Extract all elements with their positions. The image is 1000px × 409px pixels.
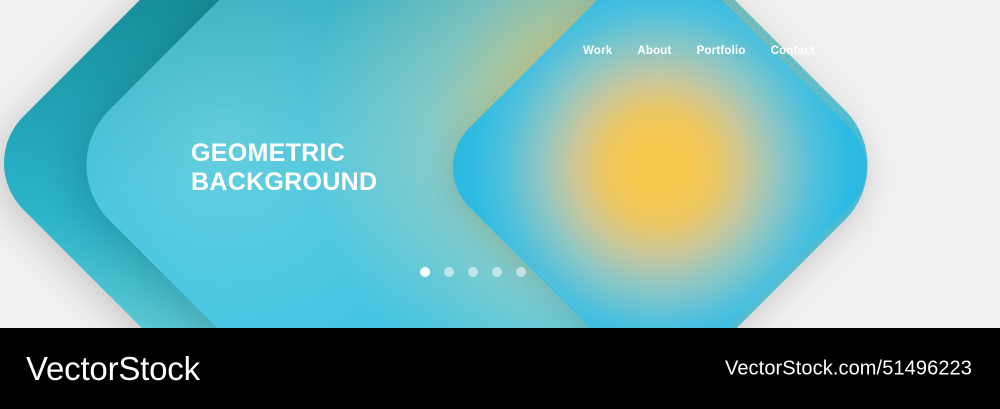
vectorstock-url: VectorStock.com/51496223 (725, 357, 972, 380)
carousel-dot-3[interactable] (468, 267, 478, 277)
vectorstock-logo: VectorStock (26, 350, 200, 388)
carousel-dot-2[interactable] (444, 267, 454, 277)
carousel-dot-5[interactable] (516, 267, 526, 277)
navigation-menu: Work About Portfolio Contact (583, 45, 815, 57)
carousel-dot-1[interactable] (420, 267, 430, 277)
headline-line-2: BACKGROUND (191, 168, 377, 197)
nav-item-contact[interactable]: Contact (771, 45, 815, 57)
nav-item-work[interactable]: Work (583, 45, 612, 57)
headline-line-1: GEOMETRIC (191, 139, 377, 168)
watermark-bar: VectorStock VectorStock.com/51496223 (0, 328, 1000, 409)
carousel-dot-4[interactable] (492, 267, 502, 277)
nav-item-portfolio[interactable]: Portfolio (697, 45, 746, 57)
artwork-image: Work About Portfolio Contact GEOMETRIC B… (0, 0, 1000, 328)
carousel-indicators (420, 267, 526, 277)
page-title: GEOMETRIC BACKGROUND (191, 139, 377, 197)
screenshot-canvas: Work About Portfolio Contact GEOMETRIC B… (0, 0, 1000, 409)
nav-item-about[interactable]: About (637, 45, 671, 57)
